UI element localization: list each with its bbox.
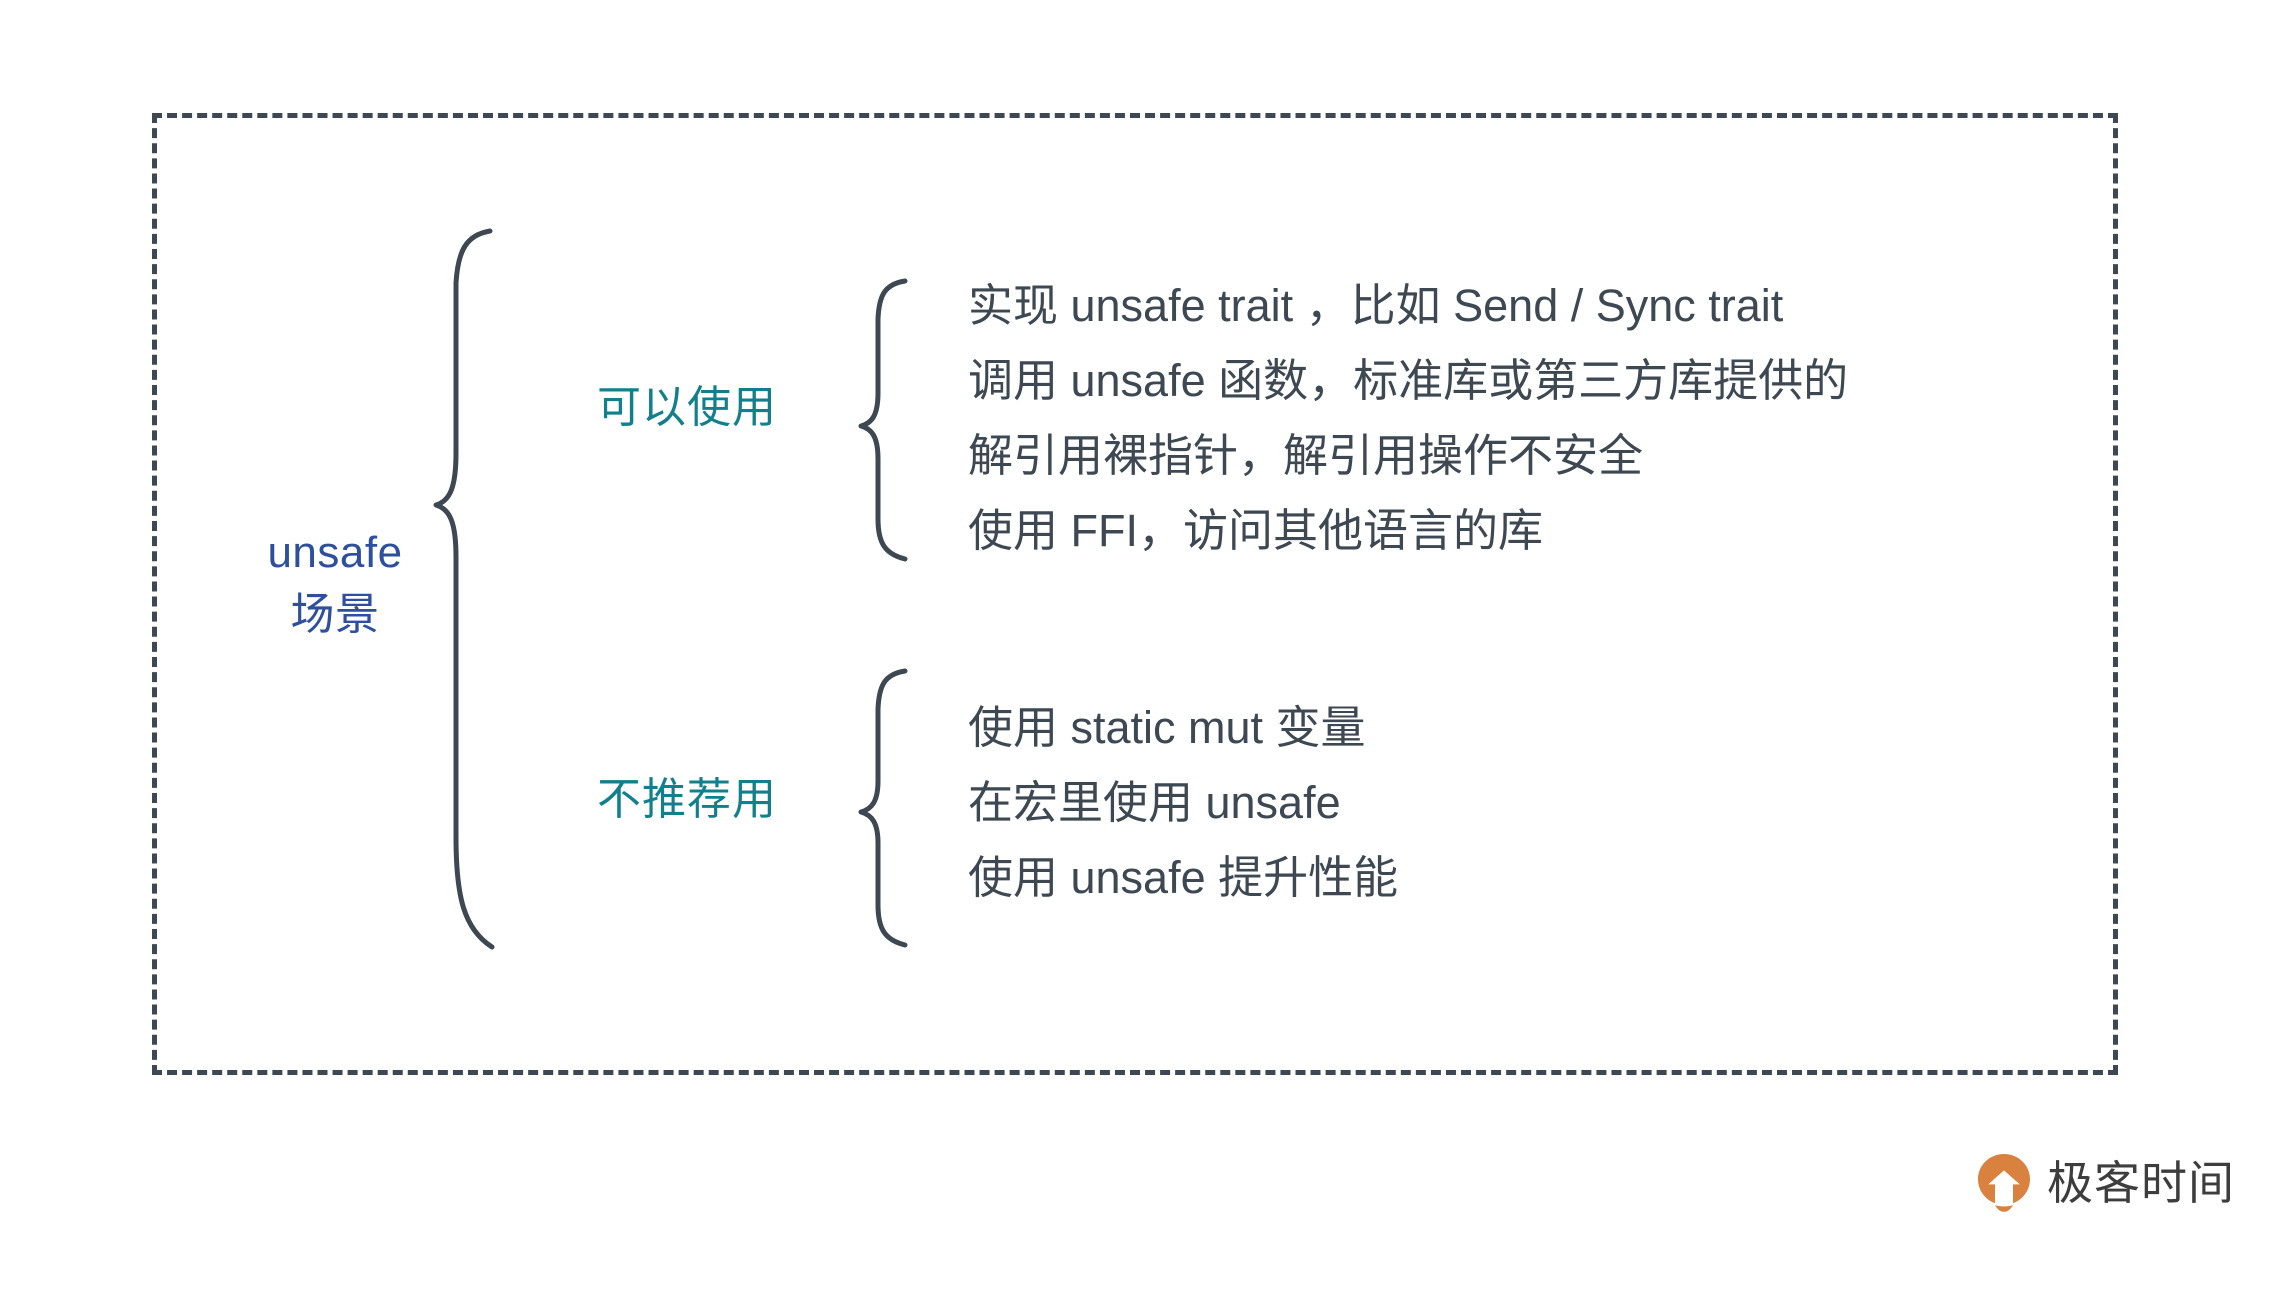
brand-logo: 极客时间 <box>1975 1152 2235 1214</box>
branch-label-1: 不推荐用 <box>597 772 777 828</box>
list-item: 解引用裸指针，解引用操作不安全 <box>968 418 1848 493</box>
main-brace-icon <box>430 225 500 955</box>
list-item: 在宏里使用 unsafe <box>968 765 1398 840</box>
list-item: 使用 static mut 变量 <box>968 690 1398 765</box>
list-item: 调用 unsafe 函数，标准库或第三方库提供的 <box>968 343 1848 418</box>
root-label-line-1: unsafe <box>240 522 430 584</box>
branch-brace-0-icon <box>855 275 915 565</box>
geektime-pin-icon <box>1975 1152 2033 1214</box>
root-node-label: unsafe 场景 <box>240 522 430 646</box>
list-item: 使用 unsafe 提升性能 <box>968 840 1398 915</box>
root-label-line-2: 场景 <box>240 584 430 646</box>
branch-label-0: 可以使用 <box>597 380 777 436</box>
list-item: 实现 unsafe trait ，比如 Send / Sync trait <box>968 268 1848 343</box>
branch-0-items: 实现 unsafe trait ，比如 Send / Sync trait 调用… <box>968 268 1848 568</box>
list-item: 使用 FFI，访问其他语言的库 <box>968 493 1848 568</box>
branch-brace-1-icon <box>855 663 915 953</box>
brand-name: 极客时间 <box>2047 1158 2235 1208</box>
branch-1-items: 使用 static mut 变量 在宏里使用 unsafe 使用 unsafe … <box>968 690 1398 915</box>
